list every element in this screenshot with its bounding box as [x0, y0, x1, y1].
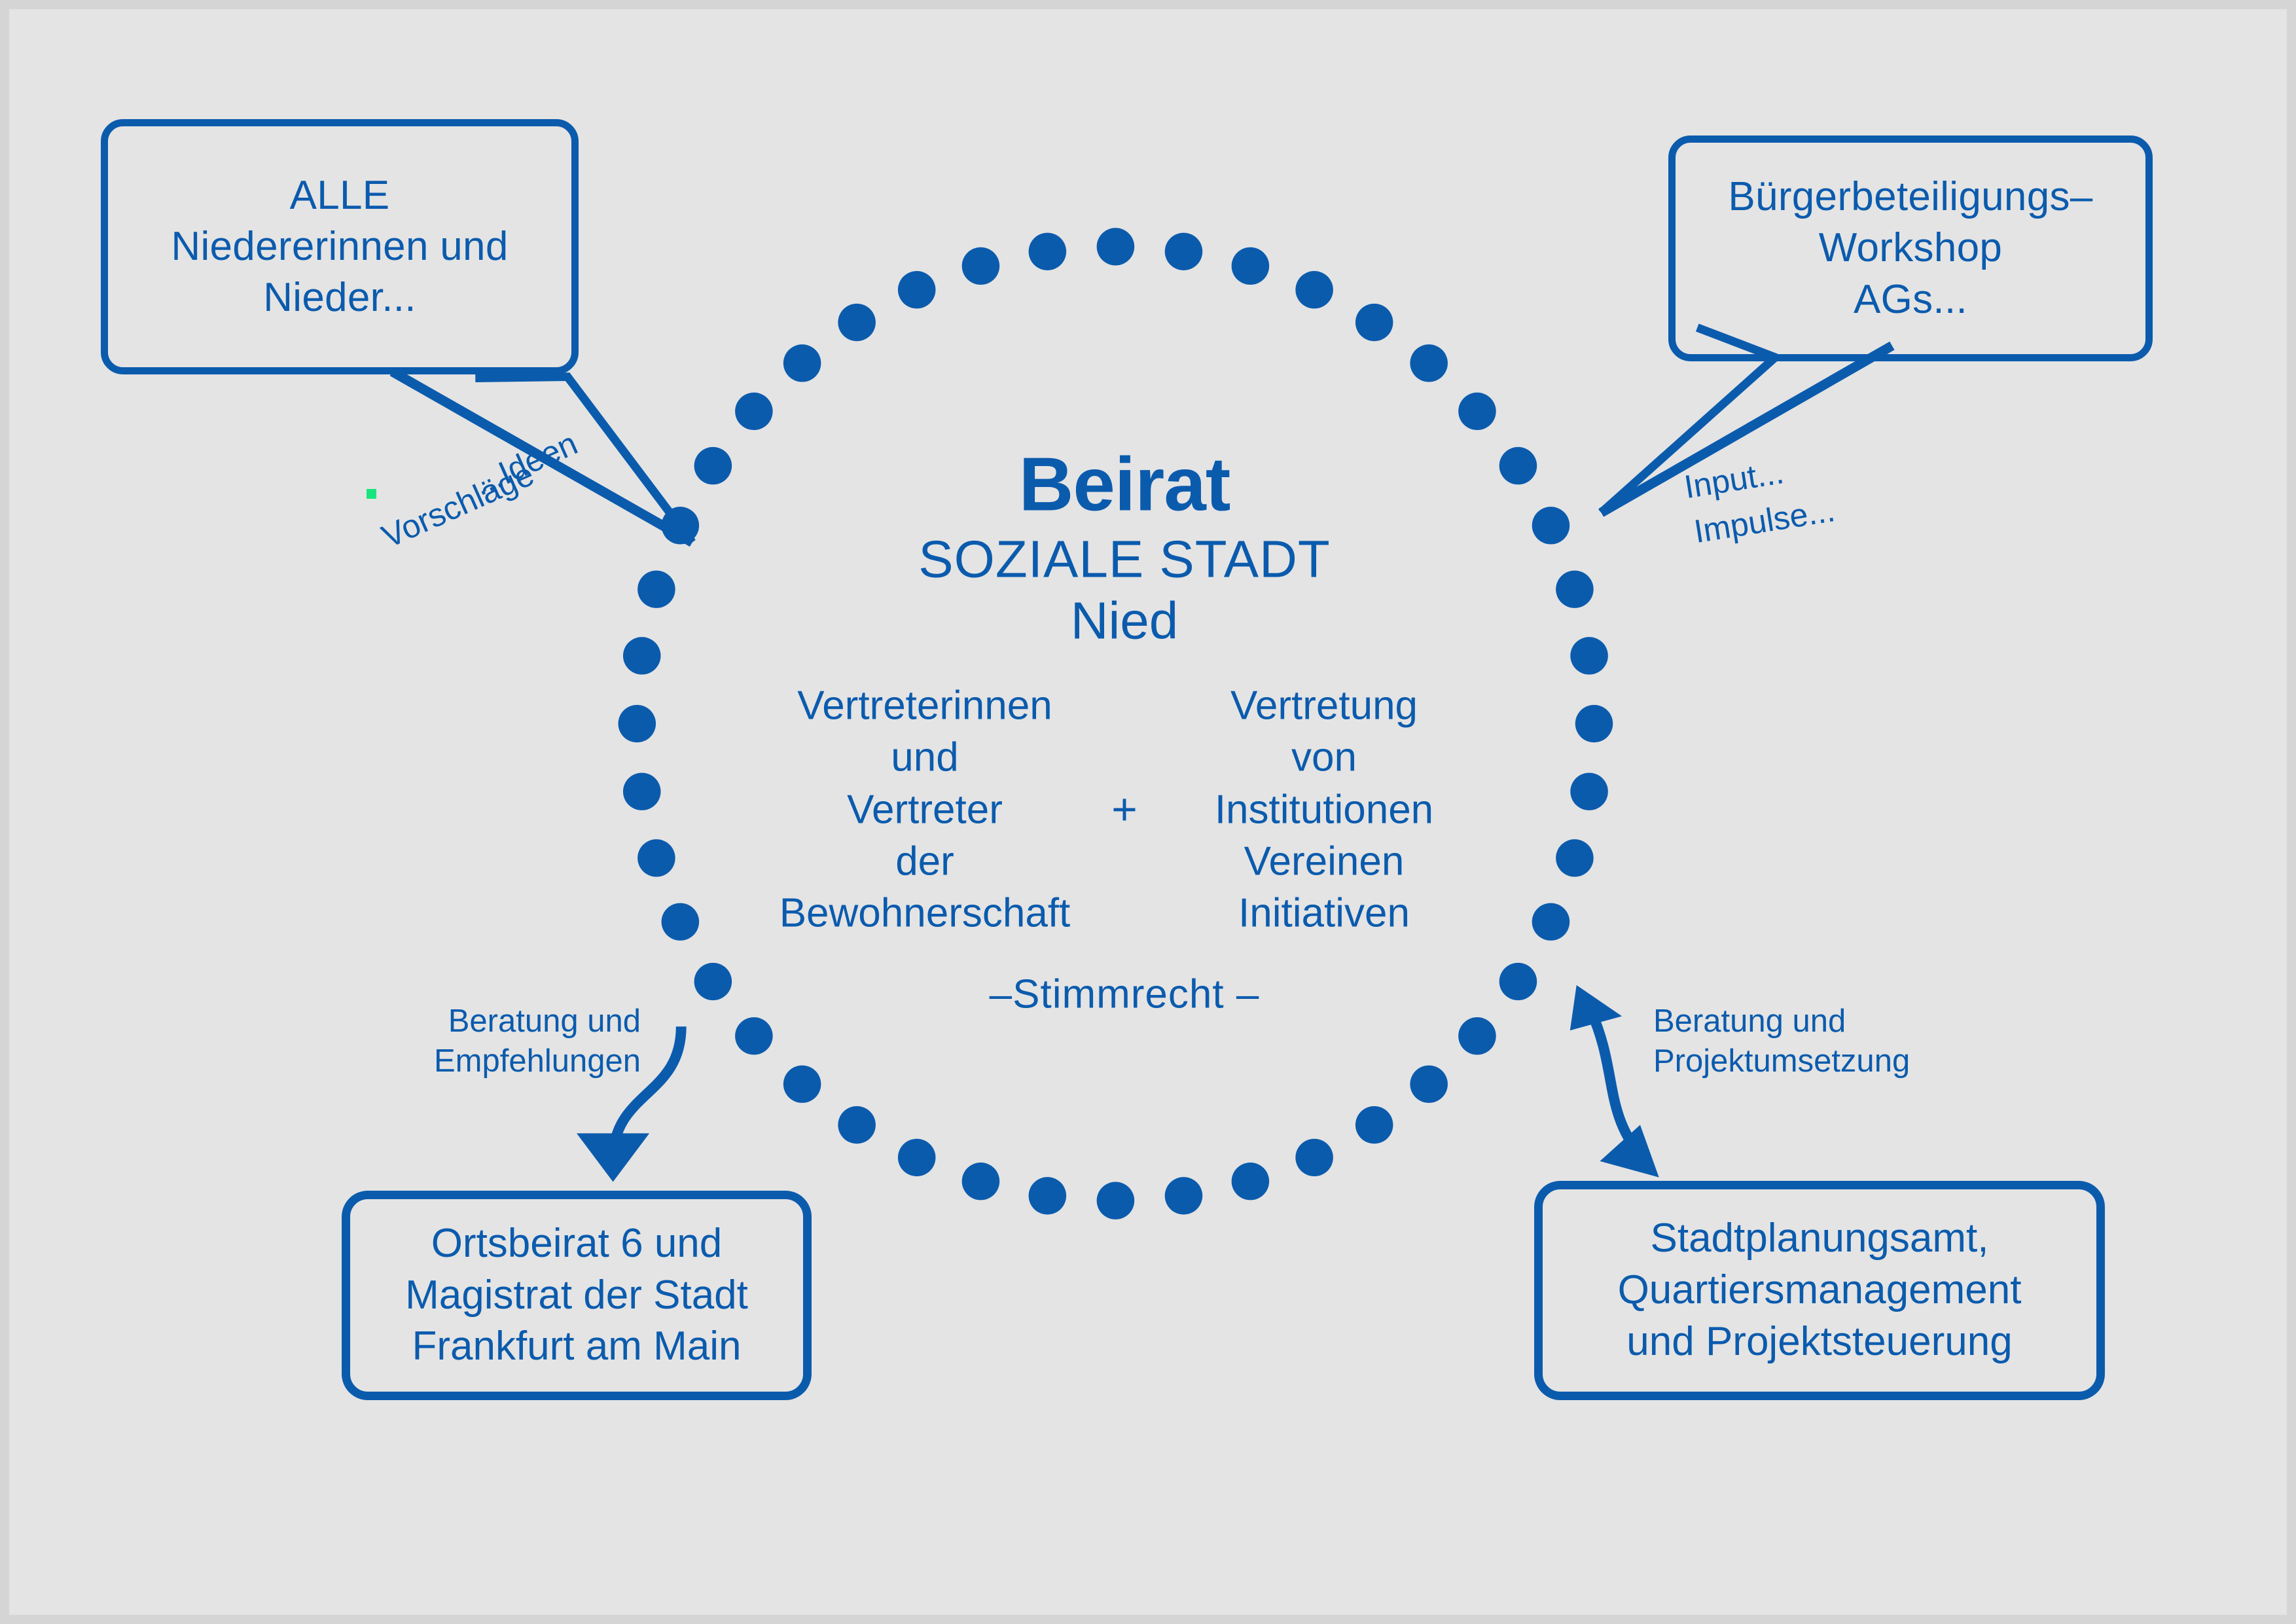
ring-dot	[898, 1139, 936, 1176]
ring-dot	[637, 571, 675, 608]
center-content: Beirat SOZIALE STADT Nied Vertreterinnen…	[712, 446, 1537, 1018]
speech-bubble-participation-workshop[interactable]: Bürgerbeteiligungs– Workshop AGs...	[1668, 135, 2153, 361]
ring-dot	[962, 247, 1000, 285]
ring-dot	[1532, 903, 1570, 941]
composition-right-column: Vertretung von Institutionen Vereinen In…	[1160, 679, 1488, 939]
ring-dot	[1410, 344, 1448, 382]
green-marker-icon	[367, 489, 376, 499]
ring-dot	[1029, 1177, 1067, 1214]
page-subtitle-line2: Nied	[712, 590, 1537, 652]
ring-dot	[1097, 228, 1135, 265]
box-stadtplanungsamt[interactable]: Stadtplanungsamt, Quartiersmanagement un…	[1534, 1181, 2105, 1400]
box-ortsbeirat-magistrat[interactable]: Ortsbeirat 6 und Magistrat der Stadt Fra…	[342, 1191, 812, 1400]
composition-left-column: Vertreterinnen und Vertreter der Bewohne…	[761, 679, 1088, 939]
box-ortsbeirat-magistrat-text: Ortsbeirat 6 und Magistrat der Stadt Fra…	[405, 1218, 748, 1373]
ring-dot	[898, 271, 936, 308]
ring-dot	[1295, 1139, 1333, 1176]
speech-bubble-all-residents[interactable]: ALLE Niedererinnen und Nieder...	[101, 119, 579, 374]
ring-dot	[1458, 393, 1496, 430]
ring-dot	[1570, 637, 1608, 674]
ring-dot	[1097, 1182, 1135, 1219]
annotation-beratung-projektumsetzung: Beratung und Projektumsetzung	[1653, 1001, 1961, 1082]
ring-dot	[838, 1106, 876, 1144]
ring-dot	[1458, 1017, 1496, 1055]
annotation-beratung-empfehlungen: Beratung und Empfehlungen	[386, 1001, 641, 1082]
ring-dot	[1232, 247, 1270, 285]
diagram-canvas: ALLE Niedererinnen und Nieder... Bürgerb…	[0, 0, 2296, 1624]
ring-dot	[783, 344, 821, 382]
ring-dot	[1575, 705, 1613, 742]
ring-dot	[1532, 507, 1570, 544]
ring-dot	[838, 304, 876, 341]
speech-bubble-participation-workshop-text: Bürgerbeteiligungs– Workshop AGs...	[1728, 171, 2092, 325]
box-stadtplanungsamt-text: Stadtplanungsamt, Quartiersmanagement un…	[1618, 1213, 2022, 1367]
composition-row: Vertreterinnen und Vertreter der Bewohne…	[712, 679, 1537, 939]
voting-rights-note: –Stimmrecht –	[712, 971, 1537, 1017]
ring-dot	[1556, 839, 1594, 876]
ring-dot	[783, 1066, 821, 1103]
ring-dot	[1295, 271, 1333, 308]
page-title: Beirat	[712, 446, 1537, 522]
ring-dot	[662, 903, 700, 941]
ring-dot	[735, 393, 773, 430]
ring-dot	[1355, 304, 1393, 341]
ring-dot	[1029, 233, 1067, 270]
ring-dot	[1410, 1066, 1448, 1103]
ring-dot	[1165, 233, 1203, 270]
ring-dot	[1355, 1106, 1393, 1144]
ring-dot	[623, 637, 661, 674]
ring-dot	[619, 705, 656, 742]
ring-dot	[1556, 571, 1594, 608]
ring-dot	[735, 1017, 773, 1055]
speech-bubble-all-residents-text: ALLE Niedererinnen und Nieder...	[171, 170, 508, 323]
plus-operator: +	[1088, 784, 1160, 835]
arrow-left-down-head	[577, 1133, 649, 1182]
ring-dot	[1570, 773, 1608, 810]
page-subtitle-line1: SOZIALE STADT	[712, 529, 1537, 590]
ring-dot	[623, 773, 661, 810]
ring-dot	[637, 839, 675, 876]
ring-dot	[1232, 1163, 1270, 1200]
ring-dot	[962, 1163, 1000, 1200]
ring-dot	[1165, 1177, 1203, 1214]
